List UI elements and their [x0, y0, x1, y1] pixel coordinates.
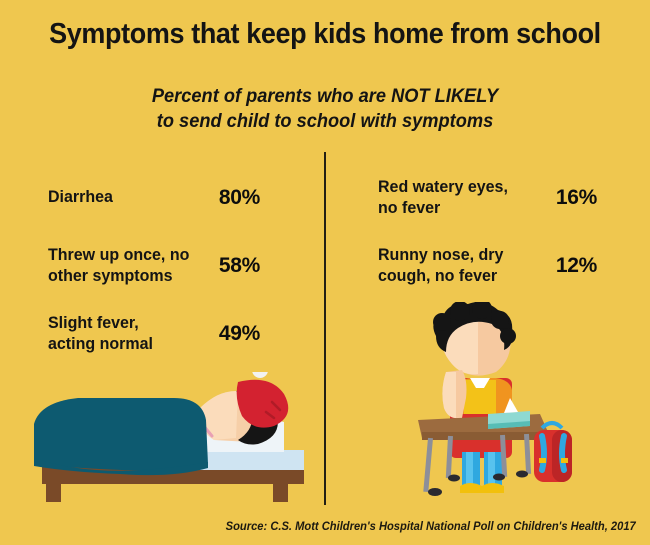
page-subtitle: Percent of parents who are NOT LIKELY to…: [13, 84, 637, 135]
infographic-root: Symptoms that keep kids home from school…: [0, 0, 650, 545]
stat-row: Threw up once, no other symptoms 58%: [48, 236, 298, 296]
stat-row: Slight fever, acting normal 49%: [48, 304, 298, 364]
stat-label-line-1: Runny nose, dry: [378, 245, 503, 266]
stats-column-right: Red watery eyes, no fever 16% Runny nose…: [378, 168, 623, 296]
page-title: Symptoms that keep kids home from school: [23, 18, 628, 51]
stat-value: 58%: [219, 254, 260, 278]
source-citation: Source: C.S. Mott Children's Hospital Na…: [226, 521, 636, 533]
stat-label-line-2: no fever: [378, 198, 508, 219]
page-subtitle-line-2: to send child to school with symptoms: [13, 109, 637, 134]
stat-label: Red watery eyes, no fever: [378, 177, 508, 219]
backpack-icon: [534, 423, 572, 482]
stat-label: Diarrhea: [48, 187, 113, 208]
stat-label-line-2: other symptoms: [48, 266, 189, 287]
stat-label-line-1: Red watery eyes,: [378, 177, 508, 198]
stat-value: 12%: [556, 254, 597, 278]
stat-label-line-2: cough, no fever: [378, 266, 503, 287]
stat-label: Runny nose, dry cough, no fever: [378, 245, 503, 287]
sick-child-at-desk-illustration: [400, 302, 650, 510]
sick-child-in-bed-illustration: [22, 372, 314, 502]
stat-value: 16%: [556, 186, 597, 210]
stat-label-line-1: Diarrhea: [48, 187, 113, 208]
stat-label-line-1: Slight fever,: [48, 313, 153, 334]
page-subtitle-line-1: Percent of parents who are NOT LIKELY: [13, 84, 637, 109]
stat-row: Red watery eyes, no fever 16%: [378, 168, 623, 228]
stat-value: 49%: [219, 322, 260, 346]
stat-label: Slight fever, acting normal: [48, 313, 153, 355]
stats-column-left: Diarrhea 80% Threw up once, no other sym…: [48, 168, 298, 364]
stat-row: Runny nose, dry cough, no fever 12%: [378, 236, 623, 296]
stat-value: 80%: [219, 186, 260, 210]
stat-label-line-1: Threw up once, no: [48, 245, 189, 266]
stat-label: Threw up once, no other symptoms: [48, 245, 189, 287]
stat-label-line-2: acting normal: [48, 334, 153, 355]
column-divider: [324, 152, 326, 505]
stat-row: Diarrhea 80%: [48, 168, 298, 228]
